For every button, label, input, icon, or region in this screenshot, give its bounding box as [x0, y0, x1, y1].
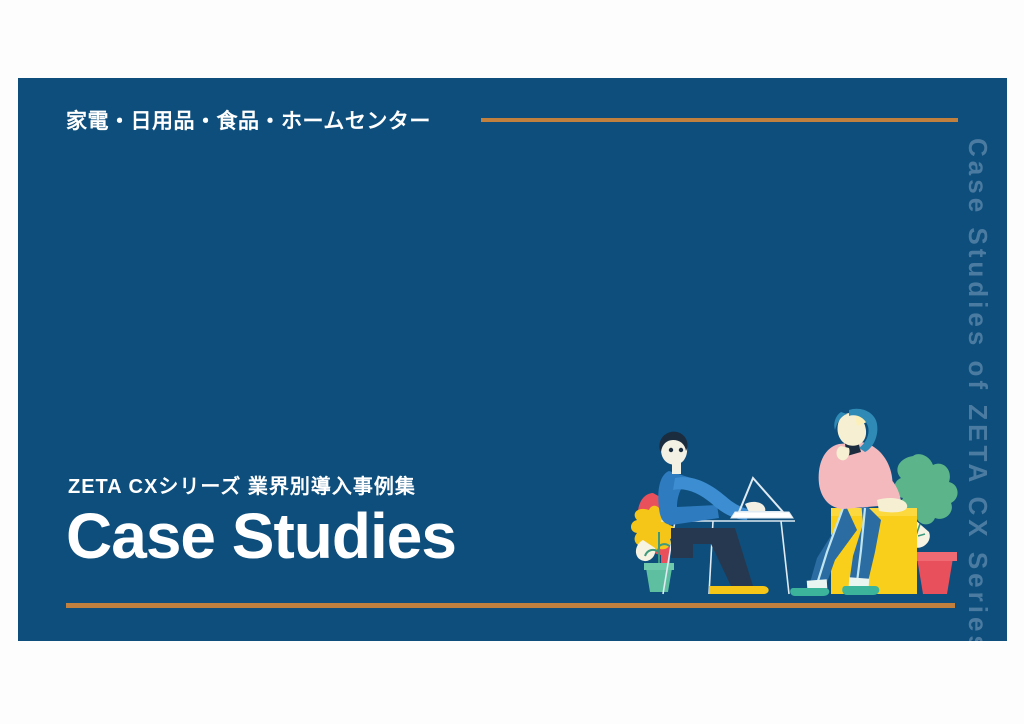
slide-category-label: 家電・日用品・食品・ホームセンター [66, 105, 431, 135]
laptop [731, 478, 793, 518]
footer-rule [66, 603, 955, 608]
slide-subtitle: ZETA CXシリーズ 業界別導入事例集 [68, 470, 416, 499]
header-rule [481, 118, 958, 122]
page-title: Case Studies [66, 503, 456, 570]
people-working-illustration [613, 408, 983, 608]
slide-canvas: 家電・日用品・食品・ホームセンター Case Studies of ZETA C… [0, 0, 1024, 724]
presentation-slide: 家電・日用品・食品・ホームセンター Case Studies of ZETA C… [18, 78, 1007, 641]
